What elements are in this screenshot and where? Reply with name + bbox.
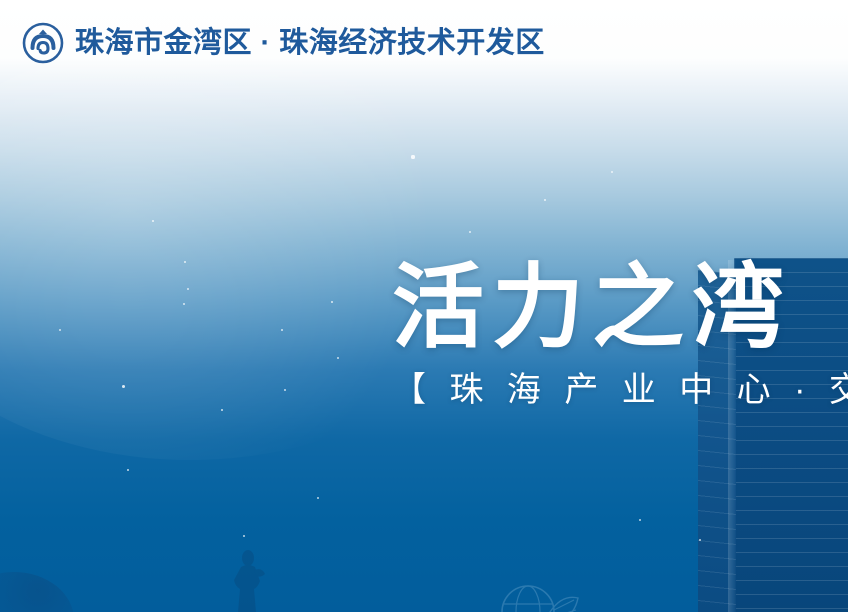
particle-dot [127, 469, 129, 471]
page-root: 珠海市金湾区 · 珠海经济技术开发区 活力之湾 【 珠 海 产 业 中 心 · … [0, 0, 848, 612]
particle-dot [152, 220, 155, 223]
statue-silhouette [228, 548, 272, 612]
particle-dot [122, 385, 125, 388]
particle-dot [469, 231, 471, 233]
particle-dot [331, 301, 334, 304]
particle-dot [411, 155, 414, 158]
hero-headline: 活力之湾 [392, 262, 848, 354]
particle-dot [544, 199, 546, 201]
site-header: 珠海市金湾区 · 珠海经济技术开发区 [0, 0, 848, 86]
particle-dot [243, 535, 245, 537]
particle-dot [284, 389, 286, 391]
globe-emblem-silhouette [488, 578, 584, 612]
particle-dot [611, 171, 613, 173]
particle-dot [59, 329, 61, 331]
bottom-left-arc [0, 572, 74, 612]
particle-dot [221, 409, 224, 412]
hero-subline: 【 珠 海 产 业 中 心 · 交 通 [392, 372, 848, 409]
particle-dot [187, 288, 189, 290]
particle-dot [317, 497, 319, 499]
particle-dot [281, 329, 283, 331]
particle-dot [337, 357, 339, 359]
hero-copy: 活力之湾 【 珠 海 产 业 中 心 · 交 通 [392, 262, 848, 409]
particle-dot [183, 303, 185, 305]
particle-dot [639, 519, 641, 521]
site-title: 珠海市金湾区 · 珠海经济技术开发区 [75, 29, 545, 58]
particle-dot [184, 261, 186, 263]
particle-dot [699, 539, 701, 541]
spiral-circle-logo-icon[interactable] [22, 22, 64, 64]
